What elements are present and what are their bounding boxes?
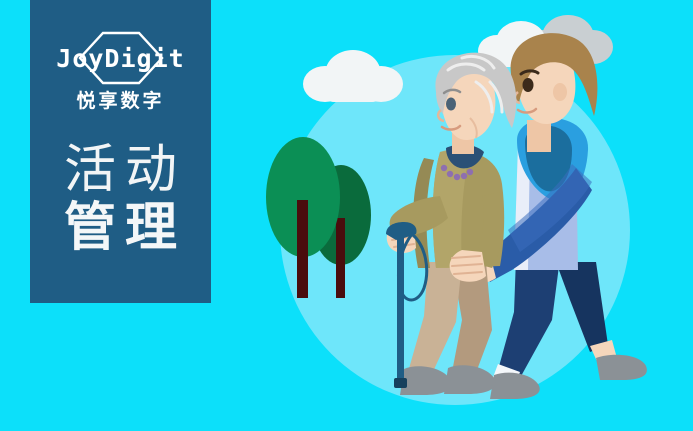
page-title-line1: 活动 <box>55 141 186 199</box>
young-man-eye <box>523 78 534 92</box>
brand-subtitle: 悦享数字 <box>76 92 164 111</box>
info-panel: JoyDigit 悦享数字 活动 管理 <box>30 0 211 303</box>
brand-name: JoyDigit <box>56 46 184 71</box>
elderly-woman-eye <box>446 98 456 111</box>
brand-logo: JoyDigit <box>46 30 196 86</box>
page-title: 活动 管理 <box>55 141 186 257</box>
page-title-line2: 管理 <box>55 199 186 257</box>
poster-canvas: JoyDigit 悦享数字 活动 管理 <box>0 0 693 431</box>
